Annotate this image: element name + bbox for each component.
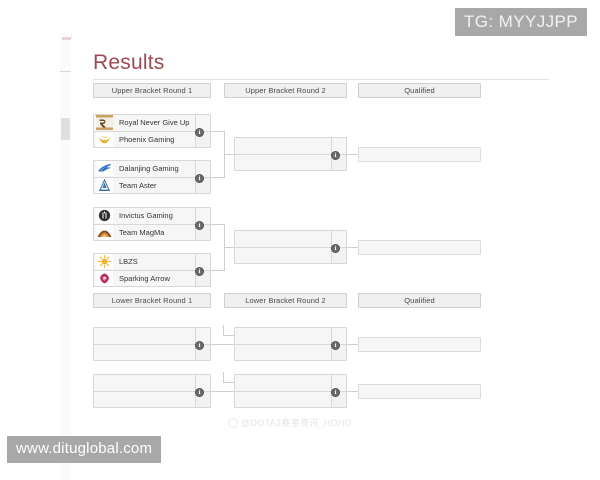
page-scroll-thumb[interactable]	[61, 118, 70, 140]
team-name: Dalanjing Gaming	[115, 164, 179, 174]
aster-logo	[95, 177, 115, 193]
match-info-icon[interactable]: i	[195, 341, 204, 350]
rng-logo	[95, 115, 115, 131]
weibo-icon	[228, 418, 238, 428]
match-upper-r2-1[interactable]: i	[234, 137, 347, 171]
match-upper-r1-2[interactable]: Dalanjing Gaming Team Aster i	[93, 160, 211, 194]
match-slot-team[interactable]	[94, 328, 210, 344]
match-slot-team[interactable]	[235, 231, 346, 247]
connector	[211, 391, 234, 392]
team-name: Phoenix Gaming	[115, 135, 174, 145]
weibo-watermark-text: @DOTA2赛事资讯_HOHO	[241, 416, 352, 429]
match-slot-team[interactable]	[94, 344, 210, 360]
team-name: LBZS	[115, 257, 138, 267]
results-page: Results Upper Bracket Round 1 Upper Brac…	[0, 0, 600, 480]
round-header-upper-r1[interactable]: Upper Bracket Round 1	[93, 83, 211, 98]
match-slot-team[interactable]	[94, 391, 210, 407]
match-slot-team[interactable]	[235, 247, 346, 263]
match-slot-team[interactable]: Phoenix Gaming	[94, 131, 210, 147]
match-info-icon[interactable]: i	[195, 221, 204, 230]
connector	[211, 344, 234, 345]
match-slot-team[interactable]	[235, 138, 346, 154]
match-slot-team[interactable]: Sparking Arrow	[94, 270, 210, 286]
match-info-icon[interactable]: i	[331, 244, 340, 253]
team-name: Invictus Gaming	[115, 211, 173, 221]
match-slot-team[interactable]: Team Aster	[94, 177, 210, 193]
match-slot-team[interactable]: Dalanjing Gaming	[94, 161, 210, 177]
qualified-slot-upper-2[interactable]	[358, 240, 481, 255]
match-info-icon[interactable]: i	[331, 388, 340, 397]
match-lower-r1-1[interactable]: i	[93, 327, 211, 361]
match-info-icon[interactable]: i	[331, 151, 340, 160]
match-upper-r1-3[interactable]: Invictus Gaming Team MagMa i	[93, 207, 211, 241]
round-header-upper-r2[interactable]: Upper Bracket Round 2	[224, 83, 347, 98]
sag-logo	[95, 270, 115, 286]
team-name: Royal Never Give Up	[115, 118, 189, 128]
round-header-lower-qualified[interactable]: Qualified	[358, 293, 481, 308]
qualified-slot-lower-1[interactable]	[358, 337, 481, 352]
connector	[223, 335, 234, 336]
match-upper-r1-4[interactable]: LBZS Sparking Arrow i	[93, 253, 211, 287]
round-header-lower-r1[interactable]: Lower Bracket Round 1	[93, 293, 211, 308]
round-header-lower-r2[interactable]: Lower Bracket Round 2	[224, 293, 347, 308]
weibo-watermark: @DOTA2赛事资讯_HOHO	[228, 416, 352, 429]
phoenix-logo	[95, 131, 115, 147]
round-header-upper-qualified[interactable]: Qualified	[358, 83, 481, 98]
match-slot-team[interactable]: LBZS	[94, 254, 210, 270]
match-info-icon[interactable]: i	[195, 128, 204, 137]
match-slot-team[interactable]	[235, 154, 346, 170]
match-slot-team[interactable]	[235, 391, 346, 407]
match-slot-team[interactable]	[235, 328, 346, 344]
page-title: Results	[93, 50, 164, 76]
match-slot-team[interactable]	[94, 375, 210, 391]
site-url-watermark: www.dituglobal.com	[7, 436, 161, 463]
qualified-slot-lower-2[interactable]	[358, 384, 481, 399]
team-name: Team Aster	[115, 181, 157, 191]
dalanjing-logo	[95, 161, 115, 177]
team-name: Sparking Arrow	[115, 274, 170, 284]
match-info-icon[interactable]: i	[331, 341, 340, 350]
match-lower-r1-2[interactable]: i	[93, 374, 211, 408]
ig-logo	[95, 208, 115, 224]
title-divider	[93, 79, 549, 80]
team-name: Team MagMa	[115, 228, 164, 238]
match-lower-r2-1[interactable]: i	[234, 327, 347, 361]
connector	[211, 177, 225, 178]
match-info-icon[interactable]: i	[195, 174, 204, 183]
connector	[211, 224, 225, 225]
match-slot-team[interactable]	[235, 375, 346, 391]
match-lower-r2-2[interactable]: i	[234, 374, 347, 408]
connector	[347, 344, 358, 345]
results-content: Results Upper Bracket Round 1 Upper Brac…	[71, 37, 600, 480]
match-slot-team[interactable]: Invictus Gaming	[94, 208, 210, 224]
connector	[347, 391, 358, 392]
gutter-tick	[60, 71, 71, 72]
connector	[347, 247, 358, 248]
connector	[211, 270, 225, 271]
connector	[224, 247, 234, 248]
match-info-icon[interactable]: i	[195, 388, 204, 397]
lbzs-logo	[95, 254, 115, 270]
match-upper-r1-1[interactable]: Royal Never Give Up Phoenix Gaming i	[93, 114, 211, 148]
match-slot-team[interactable]: Team MagMa	[94, 224, 210, 240]
connector	[211, 131, 225, 132]
connector	[223, 382, 234, 383]
match-slot-team[interactable]: Royal Never Give Up	[94, 115, 210, 131]
match-info-icon[interactable]: i	[195, 267, 204, 276]
match-slot-team[interactable]	[235, 344, 346, 360]
connector	[347, 154, 358, 155]
match-upper-r2-2[interactable]: i	[234, 230, 347, 264]
telegram-watermark: TG: MYYJJPP	[455, 8, 587, 36]
qualified-slot-upper-1[interactable]	[358, 147, 481, 162]
connector	[224, 154, 234, 155]
magma-logo	[95, 224, 115, 240]
left-gutter	[0, 0, 60, 480]
